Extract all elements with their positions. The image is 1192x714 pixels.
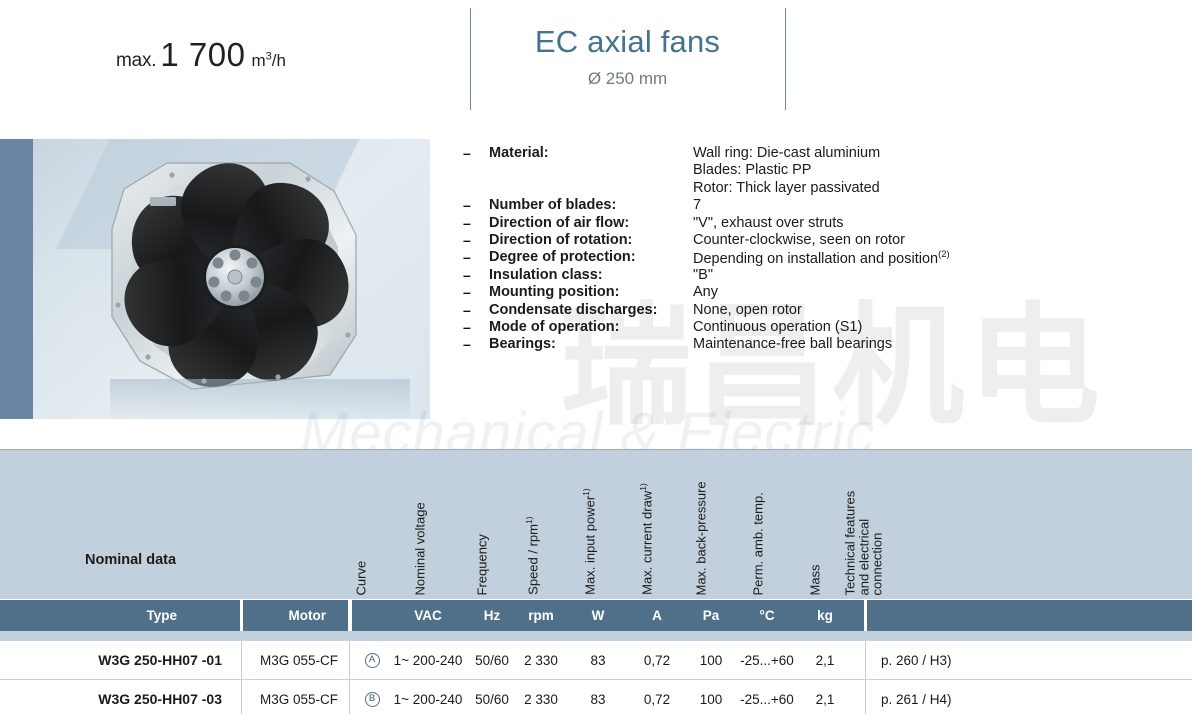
- cell-rpm: 2 330: [513, 680, 569, 714]
- rotated-header-line: and electrical: [857, 490, 871, 595]
- spec-bullet-dash-icon: –: [463, 302, 471, 318]
- spec-bullet-dash-icon: –: [463, 319, 471, 335]
- rotated-header-slot: Frequency: [489, 449, 505, 595]
- product-photo: [0, 139, 430, 419]
- cell-type: W3G 250-HH07 -03: [0, 680, 240, 714]
- cell-technical-reference: p. 260 / H3): [867, 641, 1192, 679]
- spec-value: Blades: Plastic PP: [693, 162, 811, 178]
- spec-row: –Mounting position:Any: [463, 284, 1183, 301]
- spec-key: Bearings:: [489, 336, 556, 352]
- page-header: max.1 700m3/h EC axial fans Ø 250 mm: [0, 0, 1192, 130]
- spec-row: –Condensate discharges:None, open rotor: [463, 302, 1183, 319]
- unit-m: m: [251, 51, 265, 70]
- rotated-header-line: Technical features: [844, 490, 858, 595]
- spec-value: "B": [693, 267, 713, 283]
- header-footnote-marker: 1): [581, 488, 591, 496]
- spec-footnote-marker: (2): [938, 249, 950, 260]
- unit-label-kg: kg: [795, 600, 855, 631]
- page-title: EC axial fans: [470, 24, 785, 60]
- unit-per-hour: /h: [272, 51, 286, 70]
- rotated-column-label: Curve: [355, 560, 369, 595]
- cell-technical-reference: p. 261 / H4): [867, 680, 1192, 714]
- spec-value: Continuous operation (S1): [693, 319, 862, 335]
- cell-rpm: 2 330: [513, 641, 569, 679]
- spec-bullet-dash-icon: –: [463, 284, 471, 300]
- cell-kg: 2,1: [802, 680, 848, 714]
- spec-bullet-dash-icon: –: [463, 197, 471, 213]
- spec-key: Direction of rotation:: [489, 232, 632, 248]
- product-datasheet-page: max.1 700m3/h EC axial fans Ø 250 mm: [0, 0, 1192, 714]
- rotated-column-label: Max. back-pressure: [695, 481, 709, 595]
- vsep-type: [241, 641, 242, 679]
- vsep-type: [241, 680, 242, 714]
- rotated-header-slot: Technical featuresand electricalconnecti…: [884, 449, 900, 595]
- axial-fan-illustration: [72, 149, 412, 411]
- unit-label-w: W: [568, 600, 628, 631]
- spec-value: "V", exhaust over struts: [693, 215, 844, 231]
- spec-row: –Direction of air flow:"V", exhaust over…: [463, 215, 1183, 232]
- spec-row: –Material:Wall ring: Die-cast aluminium: [463, 145, 1183, 162]
- vsep-motor: [349, 641, 350, 679]
- rotated-header-slot: Mass: [822, 449, 838, 595]
- nominal-data-table: CurveNominal voltageFrequencySpeed / rpm…: [0, 449, 1192, 714]
- column-header-type: Type: [0, 600, 240, 631]
- spec-bullet-dash-icon: –: [463, 145, 471, 161]
- rotated-column-label: Frequency: [476, 534, 490, 595]
- header-footnote-marker: 1): [638, 483, 648, 491]
- title-block: EC axial fans Ø 250 mm: [470, 24, 785, 89]
- cell-hz: 50/60: [464, 641, 520, 679]
- rotated-column-label: Max. current draw1): [637, 483, 654, 595]
- spec-bullet-dash-icon: –: [463, 249, 471, 265]
- rotated-column-label: Nominal voltage: [414, 502, 428, 595]
- spec-bullet-dash-icon: –: [463, 215, 471, 231]
- spec-value: 7: [693, 197, 701, 213]
- vsep-motor: [349, 680, 350, 714]
- spec-value: Depending on installation and position(2…: [693, 249, 950, 267]
- column-header-units: VACHzrpmWAPa°Ckg: [352, 600, 864, 631]
- header-divider-right: [785, 8, 786, 110]
- spec-value: Any: [693, 284, 718, 300]
- vsep-technical: [865, 680, 866, 714]
- unit-label-vac: VAC: [398, 600, 458, 631]
- max-airflow-unit: m3/h: [251, 51, 285, 70]
- page-subtitle: Ø 250 mm: [470, 69, 785, 89]
- unit-label-a: A: [627, 600, 687, 631]
- cell-motor: M3G 055-CF: [243, 641, 348, 679]
- rotated-column-label: Max. input power1): [580, 488, 597, 595]
- rotated-header-slot: Max. current draw1): [654, 449, 670, 595]
- rotated-header-slot: Curve: [368, 449, 384, 595]
- cell-w: 83: [575, 680, 621, 714]
- column-header-motor: Motor: [243, 600, 348, 631]
- cell-temp: -25...+60: [727, 641, 807, 679]
- spec-value: None, open rotor: [693, 302, 802, 318]
- fan-terminal-box: [150, 197, 176, 206]
- spec-bullet-dash-icon: –: [463, 267, 471, 283]
- vsep-technical: [865, 641, 866, 679]
- spec-key: Material:: [489, 145, 549, 161]
- cell-type: W3G 250-HH07 -01: [0, 641, 240, 679]
- spec-key: Degree of protection:: [489, 249, 636, 265]
- specification-list: –Material:Wall ring: Die-cast aluminiumB…: [463, 145, 1183, 354]
- rotated-header-slot: Speed / rpm1): [540, 449, 556, 595]
- spec-row: –Direction of rotation:Counter-clockwise…: [463, 232, 1183, 249]
- spec-value: Counter-clockwise, seen on rotor: [693, 232, 905, 248]
- spec-bullet-dash-icon: –: [463, 232, 471, 248]
- column-header-technical: [867, 600, 1192, 631]
- cell-motor: M3G 055-CF: [243, 680, 348, 714]
- cell-a: 0,72: [629, 641, 685, 679]
- spec-key: Insulation class:: [489, 267, 603, 283]
- spec-key: Number of blades:: [489, 197, 616, 213]
- cell-a: 0,72: [629, 680, 685, 714]
- unit-label-rpm: rpm: [511, 600, 571, 631]
- cell-hz: 50/60: [464, 680, 520, 714]
- max-airflow-value: 1 700: [156, 36, 251, 73]
- cell-w: 83: [575, 641, 621, 679]
- spec-key: Mounting position:: [489, 284, 619, 300]
- spec-continuation-row: Rotor: Thick layer passivated: [463, 180, 1183, 197]
- unit-label-c: °C: [737, 600, 797, 631]
- photo-reflection: [110, 379, 410, 419]
- spec-row: –Mode of operation:Continuous operation …: [463, 319, 1183, 336]
- table-row[interactable]: W3G 250-HH07 -01M3G 055-CFA1~ 200-24050/…: [0, 641, 1192, 679]
- rotated-header-line: connection: [871, 490, 885, 595]
- rotated-column-label: Technical featuresand electricalconnecti…: [844, 490, 885, 595]
- table-band: [0, 631, 1192, 641]
- spec-row: –Insulation class:"B": [463, 267, 1183, 284]
- photo-accent-stripe: [0, 139, 33, 419]
- spec-continuation-row: Blades: Plastic PP: [463, 162, 1183, 179]
- header-footnote-marker: 1): [524, 517, 534, 525]
- nominal-data-title: Nominal data: [85, 552, 176, 568]
- rotated-header-slot: Nominal voltage: [427, 449, 443, 595]
- max-airflow-label: max.: [116, 50, 156, 71]
- rotated-column-label: Mass: [809, 564, 823, 595]
- table-label-row: Type Motor VACHzrpmWAPa°Ckg: [0, 600, 1192, 631]
- spec-key: Condensate discharges:: [489, 302, 657, 318]
- rotated-header-slot: Perm. amb. temp.: [765, 449, 781, 595]
- rotated-header-slot: Max. input power1): [597, 449, 613, 595]
- spec-value: Wall ring: Die-cast aluminium: [693, 145, 880, 161]
- fan-shaft: [228, 270, 242, 284]
- spec-row: –Degree of protection:Depending on insta…: [463, 249, 1183, 266]
- table-row[interactable]: W3G 250-HH07 -03M3G 055-CFB1~ 200-24050/…: [0, 680, 1192, 714]
- spec-key: Mode of operation:: [489, 319, 620, 335]
- cell-temp: -25...+60: [727, 680, 807, 714]
- spec-row: –Number of blades:7: [463, 197, 1183, 214]
- rotated-header-slot: Max. back-pressure: [708, 449, 724, 595]
- unit-label-pa: Pa: [681, 600, 741, 631]
- spec-value: Maintenance-free ball bearings: [693, 336, 892, 352]
- cell-kg: 2,1: [802, 641, 848, 679]
- rotated-column-label: Perm. amb. temp.: [752, 492, 766, 595]
- spec-key: Direction of air flow:: [489, 215, 629, 231]
- fan-svg: [72, 149, 412, 411]
- max-airflow-kpi: max.1 700m3/h: [116, 36, 286, 74]
- spec-value: Rotor: Thick layer passivated: [693, 180, 880, 196]
- spec-bullet-dash-icon: –: [463, 336, 471, 352]
- rotated-column-label: Speed / rpm1): [523, 517, 540, 595]
- table-top-border: [0, 449, 1192, 450]
- spec-row: –Bearings:Maintenance-free ball bearings: [463, 336, 1183, 353]
